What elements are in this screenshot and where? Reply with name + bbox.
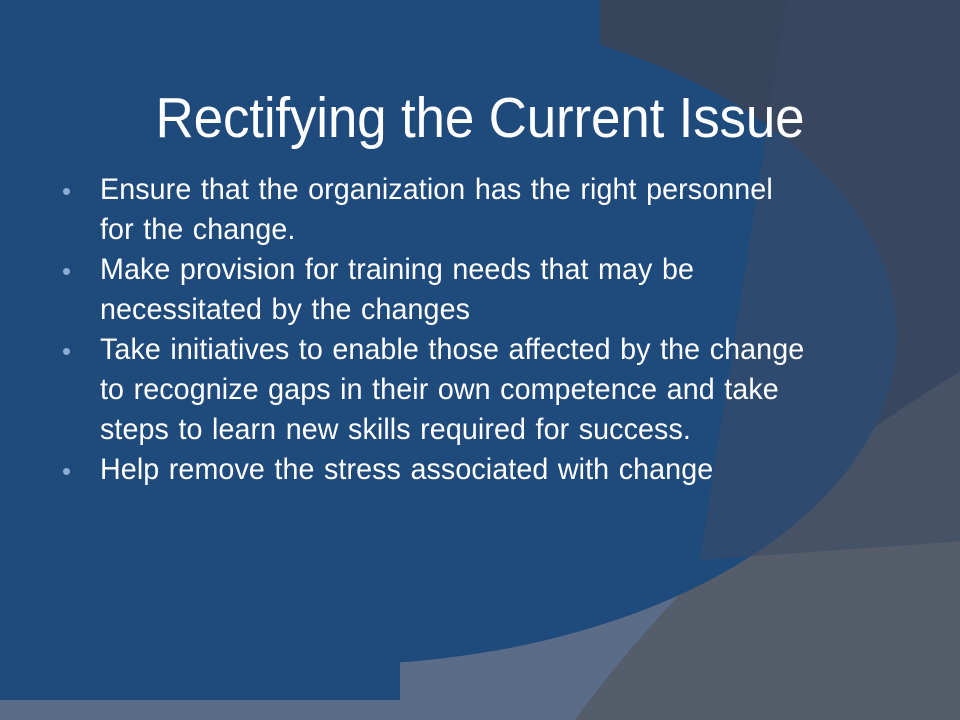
bullet-list: Ensure that the organization has the rig… bbox=[52, 170, 842, 490]
list-item: Help remove the stress associated with c… bbox=[52, 450, 842, 490]
list-item-label: Take initiatives to enable those affecte… bbox=[100, 330, 809, 450]
bullet-dot-icon bbox=[63, 268, 70, 275]
bullet-dot-icon bbox=[63, 468, 70, 475]
list-item: Take initiatives to enable those affecte… bbox=[52, 330, 842, 450]
list-item-label: Help remove the stress associated with c… bbox=[100, 450, 809, 490]
slide-canvas: Rectifying the Current Issue Ensure that… bbox=[0, 0, 960, 720]
list-item-label: Make provision for training needs that m… bbox=[100, 250, 809, 330]
bullet-dot-icon bbox=[63, 188, 70, 195]
list-item: Ensure that the organization has the rig… bbox=[52, 170, 842, 250]
list-item: Make provision for training needs that m… bbox=[52, 250, 842, 330]
page-title: Rectifying the Current Issue bbox=[34, 86, 927, 150]
list-item-label: Ensure that the organization has the rig… bbox=[100, 170, 809, 250]
bullet-dot-icon bbox=[63, 348, 70, 355]
slide-content: Rectifying the Current Issue Ensure that… bbox=[0, 0, 960, 720]
